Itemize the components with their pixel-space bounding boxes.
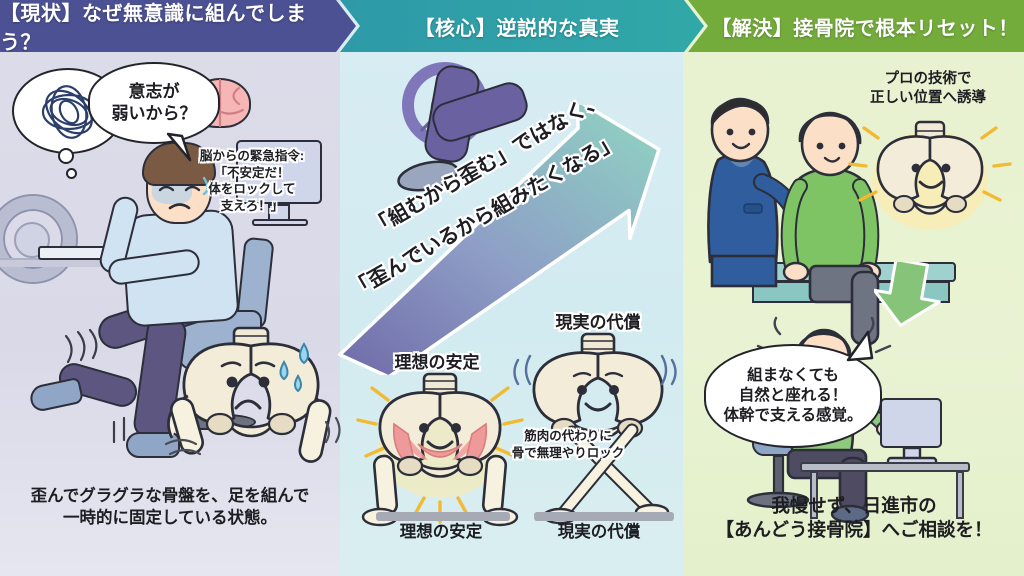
header-current-situation: 【現状】なぜ無意識に組んでしまう？ — [0, 0, 356, 52]
desktop-monitor-stand — [880, 398, 946, 468]
reality-pelvis-figure — [520, 332, 680, 522]
ideal-caption: 理想の安定 — [368, 522, 514, 544]
cta-text: 我慢せず、日進市の 【あんどう接骨院】へご相談を！ — [686, 494, 1022, 543]
infographic-canvas: 意志が 弱いから？ 脳からの緊急指令: 「不安定だ！ 体をロックして 支えろ！」… — [0, 0, 1024, 576]
down-arrow-icon — [874, 262, 946, 328]
speech-bubble-willpower: 意志が 弱いから？ — [88, 62, 220, 144]
left-caption: 歪んでグラグラな骨盤を、足を組んで 一時的に固定している状態。 — [4, 486, 336, 530]
reality-caption: 現実の代償 — [524, 522, 674, 544]
monitor-base — [252, 219, 308, 226]
result-bubble-tail — [846, 332, 888, 366]
motion-lines-left — [62, 330, 114, 390]
thought-dot-1 — [58, 148, 74, 164]
reality-floor-line — [534, 512, 674, 521]
brain-command-note: 脳からの緊急指令: 「不安定だ！ 体をロックして 支えろ！」 — [172, 148, 332, 214]
sad-pelvis-character — [176, 326, 326, 472]
reality-note: 筋肉の代わりに 骨で無理やりロック — [478, 428, 658, 461]
header-solution: 【解決】接骨院で根本リセット！ — [688, 0, 1024, 52]
pro-technique-note: プロの技術で 正しい位置へ誘導 — [836, 70, 1020, 108]
happy-pelvis-figure — [868, 118, 998, 248]
thought-dot-2 — [66, 168, 77, 179]
ideal-floor-line — [376, 512, 510, 521]
header-core-truth: 【核心】逆説的な真実 — [340, 0, 704, 52]
desk-surface — [800, 462, 970, 472]
motion-lines-foot — [112, 418, 152, 458]
